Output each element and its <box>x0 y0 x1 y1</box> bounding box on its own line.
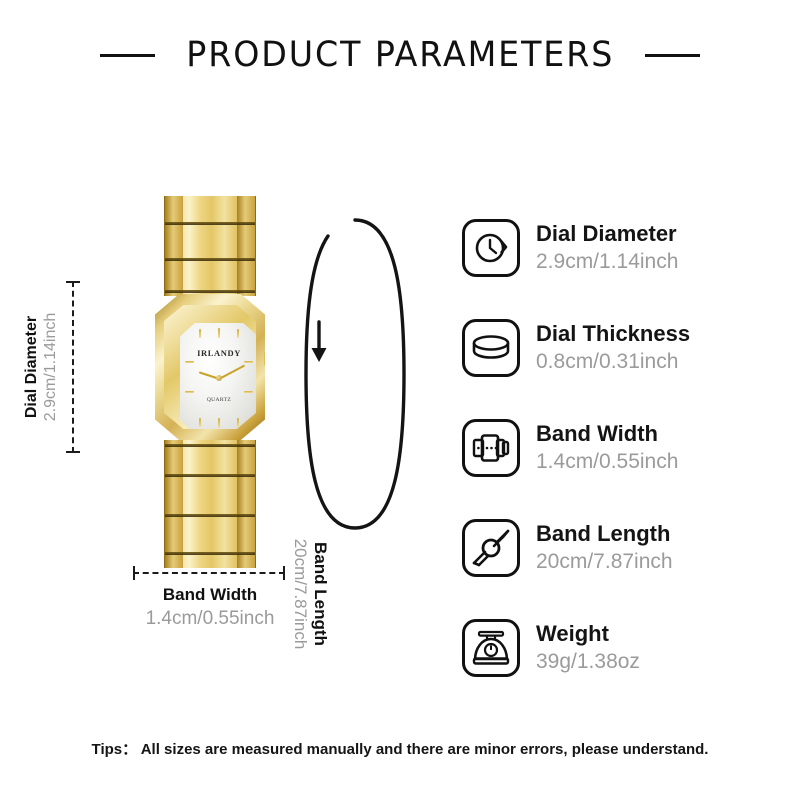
spec-row-dial-thickness: Dial Thickness 0.8cm/0.31inch <box>462 298 782 398</box>
dimension-value: 2.9cm/1.14inch <box>42 313 60 422</box>
bracelet-side-link-left <box>165 196 183 296</box>
spec-title: Weight <box>536 620 640 648</box>
spec-title: Dial Diameter <box>536 220 678 248</box>
bracelet-lower <box>164 440 256 568</box>
hour-index <box>237 418 239 427</box>
hour-index <box>237 329 239 338</box>
spec-value: 2.9cm/1.14inch <box>536 248 678 276</box>
band-length-loop-annotation: Band Length 20cm/7.87inch <box>300 214 410 534</box>
watch-band-buckle-icon <box>462 419 520 477</box>
dimension-end-cap-bottom <box>66 451 80 453</box>
bracelet-upper <box>164 196 256 296</box>
watch-dial: IRLANDY QUARTZ <box>180 323 258 433</box>
dial-movement-label: QUARTZ <box>180 397 258 403</box>
spec-text: Weight 39g/1.38oz <box>536 620 640 676</box>
watch-case: IRLANDY QUARTZ <box>155 294 265 440</box>
bracelet-link-seam <box>165 514 255 517</box>
page-header: PRODUCT PARAMETERS <box>0 30 800 80</box>
hour-index <box>185 391 194 393</box>
page-title: PRODUCT PARAMETERS <box>186 35 614 75</box>
bracelet-link-seam <box>165 222 255 225</box>
dimension-title: Dial Diameter <box>23 316 41 418</box>
spec-text: Band Length 20cm/7.87inch <box>536 520 673 576</box>
spec-title: Band Length <box>536 520 673 548</box>
dial-diameter-dimension-line <box>66 281 80 453</box>
spec-title: Band Width <box>536 420 678 448</box>
watch-product-image: IRLANDY QUARTZ <box>148 196 272 568</box>
bracelet-side-link-right <box>237 196 255 296</box>
spec-row-band-width: Band Width 1.4cm/0.55inch <box>462 398 782 498</box>
bracelet-side-link-right <box>237 440 255 568</box>
dial-brand-label: IRLANDY <box>180 348 258 358</box>
header-rule-left <box>100 54 155 57</box>
spec-text: Dial Thickness 0.8cm/0.31inch <box>536 320 690 376</box>
band-length-dimension-label: Band Length 20cm/7.87inch <box>288 444 332 744</box>
spec-title: Dial Thickness <box>536 320 690 348</box>
hour-index <box>218 418 220 428</box>
hour-index <box>244 361 253 363</box>
spec-value: 39g/1.38oz <box>536 648 640 676</box>
spec-row-weight: Weight 39g/1.38oz <box>462 598 782 698</box>
bracelet-link-seam <box>165 552 255 555</box>
bracelet-link-seam <box>165 258 255 261</box>
dimension-value: 20cm/7.87inch <box>290 539 310 650</box>
hour-index <box>199 329 201 338</box>
spec-value: 20cm/7.87inch <box>536 548 673 576</box>
bracelet-link-seam <box>165 474 255 477</box>
dimension-title: Band Length <box>310 542 330 646</box>
spec-text: Dial Diameter 2.9cm/1.14inch <box>536 220 678 276</box>
hands-center-cap <box>216 375 222 381</box>
dimension-end-cap-right <box>283 566 285 580</box>
header-rule-right <box>645 54 700 57</box>
bracelet-side-link-left <box>165 440 183 568</box>
watch-dial-icon <box>462 219 520 277</box>
disc-thickness-icon <box>462 319 520 377</box>
hour-index <box>218 328 220 338</box>
dimension-dashed-line <box>72 281 74 453</box>
bracelet-link-seam <box>165 290 255 293</box>
specs-list: Dial Diameter 2.9cm/1.14inch Dial Thickn… <box>462 198 782 698</box>
spec-value: 1.4cm/0.55inch <box>536 448 678 476</box>
spec-text: Band Width 1.4cm/0.55inch <box>536 420 678 476</box>
dial-diameter-dimension-label: Dial Diameter 2.9cm/1.14inch <box>18 279 64 455</box>
hour-index <box>244 391 253 393</box>
hour-index <box>199 418 201 427</box>
watch-strap-icon <box>462 519 520 577</box>
kitchen-scale-icon <box>462 619 520 677</box>
dimension-dashed-line <box>133 572 285 574</box>
tips-note: Tips： All sizes are measured manually an… <box>0 738 800 759</box>
spec-row-band-length: Band Length 20cm/7.87inch <box>462 498 782 598</box>
bracelet-link-seam <box>165 444 255 447</box>
hour-index <box>185 361 194 363</box>
minute-hand <box>219 364 245 379</box>
watch-bezel: IRLANDY QUARTZ <box>164 305 256 429</box>
spec-value: 0.8cm/0.31inch <box>536 348 690 376</box>
band-width-dimension-line <box>133 566 285 580</box>
watch-crown <box>264 352 271 366</box>
spec-row-dial-diameter: Dial Diameter 2.9cm/1.14inch <box>462 198 782 298</box>
